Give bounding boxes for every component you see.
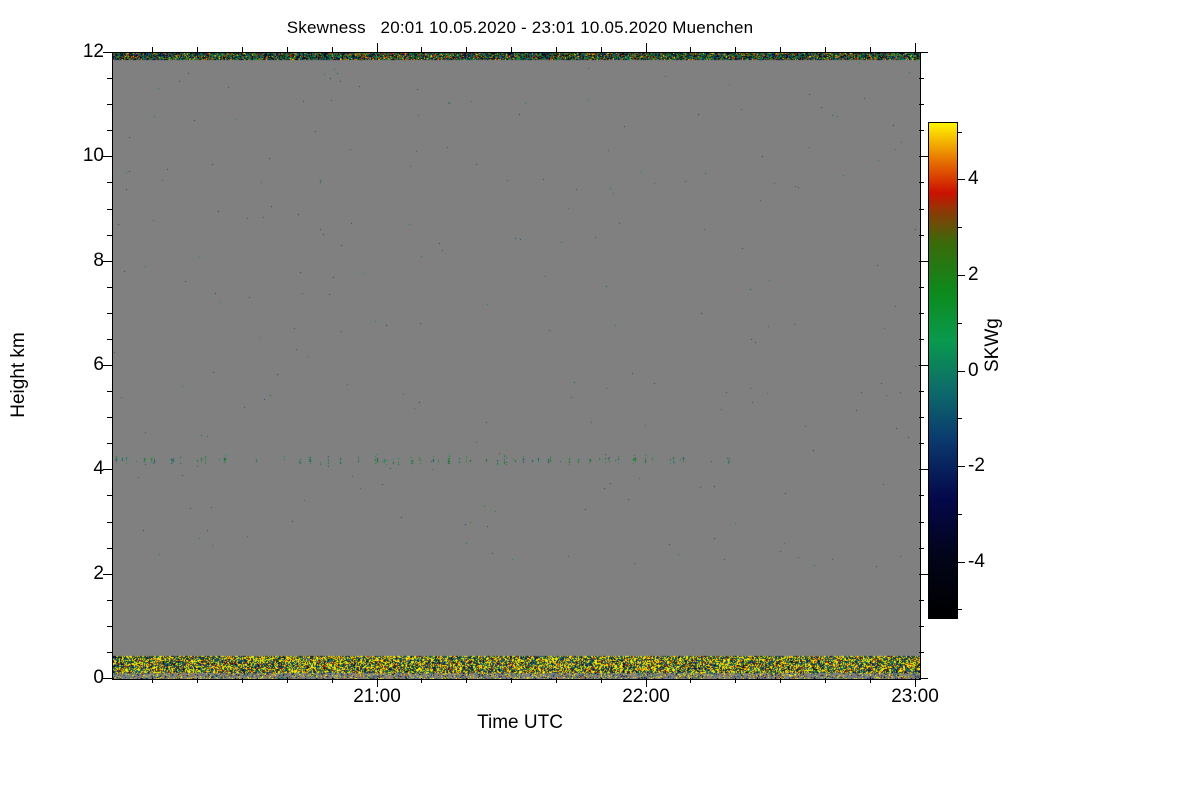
axis-tick <box>870 47 871 52</box>
axis-tick <box>825 678 826 683</box>
colorbar-minor-tick <box>958 609 962 610</box>
axis-tick <box>107 104 112 105</box>
axis-tick <box>107 209 112 210</box>
axis-tick <box>107 235 112 236</box>
axis-tick <box>780 678 781 683</box>
colorbar-title: SKWg <box>982 318 1004 372</box>
axis-tick <box>103 261 112 262</box>
axis-tick <box>103 574 112 575</box>
axis-tick <box>107 522 112 523</box>
axis-tick <box>107 130 112 131</box>
y-axis-title: Height km <box>8 332 30 418</box>
axis-tick <box>690 47 691 52</box>
axis-tick <box>466 678 467 683</box>
axis-tick <box>107 313 112 314</box>
x-axis-tick-label: 22:00 <box>622 686 670 708</box>
axis-tick <box>107 417 112 418</box>
axis-tick <box>377 43 378 52</box>
axis-tick <box>421 47 422 52</box>
axis-tick <box>919 130 924 131</box>
heatmap-canvas <box>113 53 920 679</box>
axis-tick <box>919 261 928 262</box>
axis-tick <box>919 52 928 53</box>
axis-tick <box>780 47 781 52</box>
axis-tick <box>556 678 557 683</box>
axis-tick <box>332 47 333 52</box>
axis-tick <box>870 678 871 683</box>
axis-tick <box>107 78 112 79</box>
axis-tick <box>919 495 924 496</box>
colorbar-tick-label: 0 <box>968 360 979 382</box>
axis-tick <box>646 43 647 52</box>
y-axis-tick-label: 2 <box>93 563 104 585</box>
axis-tick <box>107 287 112 288</box>
axis-tick <box>556 47 557 52</box>
axis-tick <box>919 313 924 314</box>
axis-tick <box>919 469 928 470</box>
axis-tick <box>287 678 288 683</box>
axis-tick <box>103 156 112 157</box>
axis-tick <box>919 78 924 79</box>
x-axis-tick-label: 23:00 <box>891 686 939 708</box>
colorbar-tick-label: -2 <box>968 455 985 477</box>
y-axis-tick-label: 4 <box>93 458 104 480</box>
axis-tick <box>825 47 826 52</box>
axis-tick <box>919 574 928 575</box>
axis-tick <box>919 652 924 653</box>
axis-tick <box>332 678 333 683</box>
axis-tick <box>919 678 928 679</box>
axis-tick <box>107 495 112 496</box>
axis-tick <box>152 47 153 52</box>
x-axis-title: Time UTC <box>0 712 1040 734</box>
colorbar-tick <box>958 179 965 180</box>
axis-tick <box>919 365 928 366</box>
colorbar-minor-tick <box>958 227 962 228</box>
figure-root: Skewness 20:01 10.05.2020 - 23:01 10.05.… <box>0 0 1200 800</box>
axis-tick <box>601 678 602 683</box>
axis-tick <box>919 182 924 183</box>
colorbar-tick <box>958 466 965 467</box>
colorbar-tick <box>958 275 965 276</box>
axis-tick <box>103 52 112 53</box>
axis-tick <box>919 600 924 601</box>
axis-tick <box>919 548 924 549</box>
axis-tick <box>242 47 243 52</box>
colorbar-tick <box>958 371 965 372</box>
x-axis-tick-label: 21:00 <box>353 686 401 708</box>
y-axis-tick-label: 12 <box>83 41 104 63</box>
axis-tick <box>466 47 467 52</box>
axis-tick <box>919 391 924 392</box>
axis-tick <box>107 339 112 340</box>
colorbar <box>928 122 958 619</box>
colorbar-tick <box>958 562 965 563</box>
axis-tick <box>197 678 198 683</box>
axis-tick <box>103 678 112 679</box>
axis-tick <box>735 47 736 52</box>
axis-tick <box>511 47 512 52</box>
axis-tick <box>287 47 288 52</box>
axis-tick <box>242 678 243 683</box>
axis-tick <box>919 287 924 288</box>
y-axis-tick-label: 8 <box>93 250 104 272</box>
axis-tick <box>107 626 112 627</box>
axis-tick <box>152 678 153 683</box>
axis-tick <box>919 156 928 157</box>
axis-tick <box>107 652 112 653</box>
colorbar-tick-label: 2 <box>968 264 979 286</box>
plot-area <box>112 52 921 680</box>
axis-tick <box>919 235 924 236</box>
axis-tick <box>919 339 924 340</box>
axis-tick <box>735 678 736 683</box>
colorbar-minor-tick <box>958 514 962 515</box>
y-axis-tick-label: 10 <box>83 145 104 167</box>
y-axis-labels: 024681012 <box>40 0 104 800</box>
colorbar-minor-tick <box>958 132 962 133</box>
axis-tick <box>919 417 924 418</box>
axis-tick <box>919 522 924 523</box>
axis-tick <box>421 678 422 683</box>
axis-tick <box>107 600 112 601</box>
axis-tick <box>919 104 924 105</box>
axis-tick <box>197 47 198 52</box>
axis-tick <box>915 43 916 52</box>
axis-tick <box>601 47 602 52</box>
axis-tick <box>919 209 924 210</box>
axis-tick <box>690 678 691 683</box>
axis-tick <box>107 391 112 392</box>
axis-tick <box>919 626 924 627</box>
axis-tick <box>107 548 112 549</box>
axis-tick <box>107 182 112 183</box>
colorbar-minor-tick <box>958 418 962 419</box>
y-axis-tick-label: 6 <box>93 354 104 376</box>
colorbar-minor-tick <box>958 323 962 324</box>
axis-tick <box>919 443 924 444</box>
colorbar-tick-label: 4 <box>968 168 979 190</box>
axis-tick <box>107 443 112 444</box>
page-title: Skewness 20:01 10.05.2020 - 23:01 10.05.… <box>0 18 1040 38</box>
axis-tick <box>511 678 512 683</box>
axis-tick <box>103 365 112 366</box>
colorbar-gradient <box>928 122 958 619</box>
colorbar-tick-label: -4 <box>968 551 985 573</box>
